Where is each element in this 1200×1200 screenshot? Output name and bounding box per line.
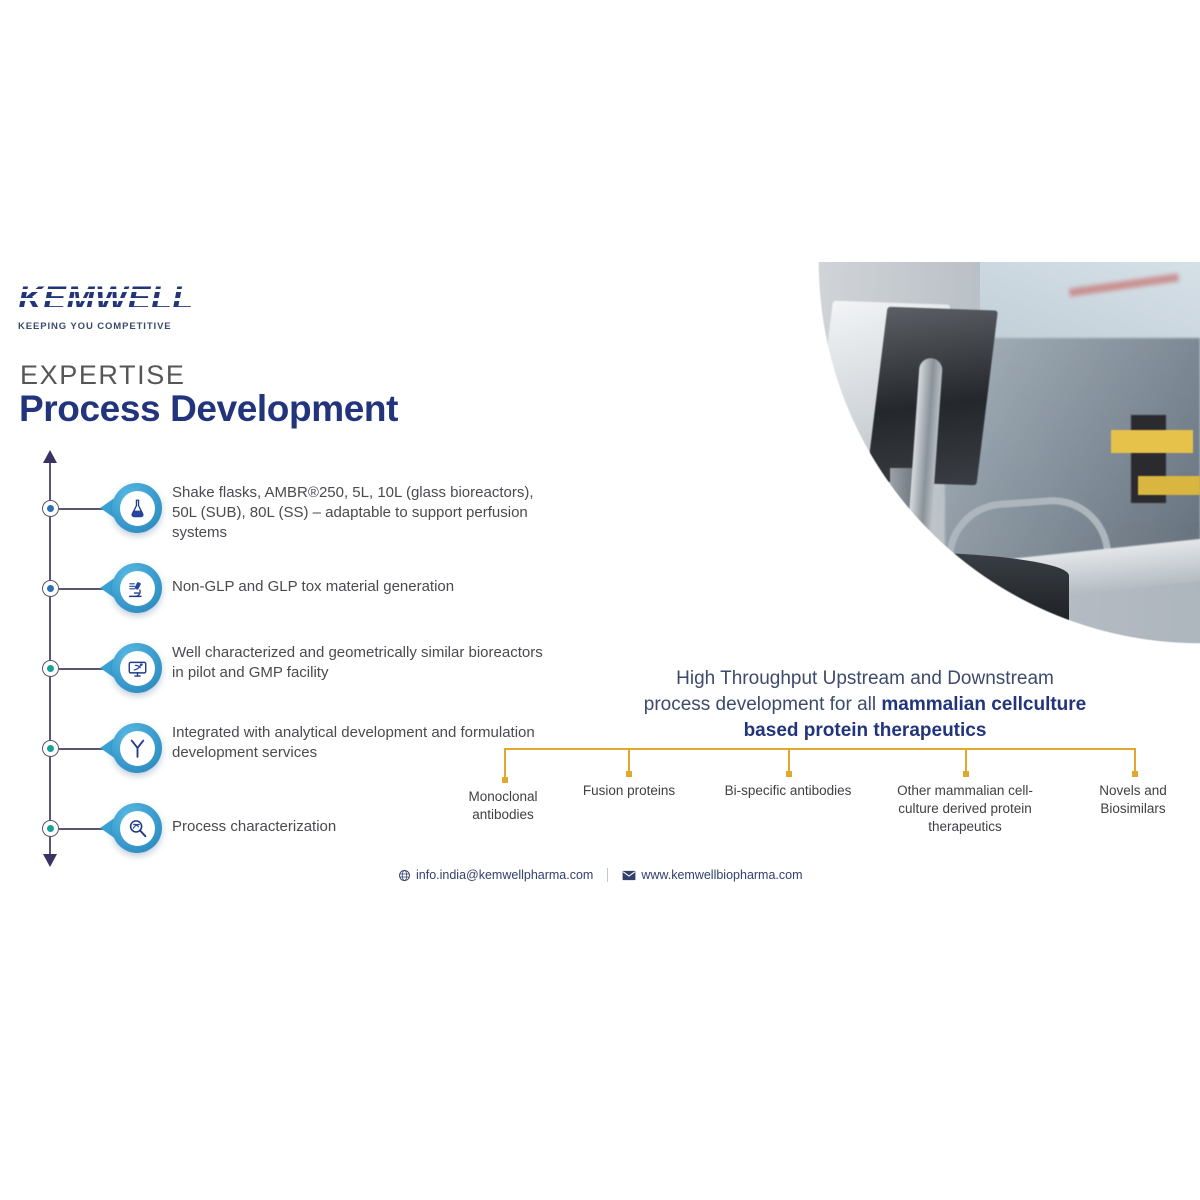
bioreactor-monitor-icon [112,643,162,693]
eyebrow-expertise: EXPERTISE [20,360,185,391]
timeline-axis-line [49,460,51,858]
hero-subheading: High Throughput Upstream and Downstream … [585,666,1145,745]
timeline-item-label: Non-GLP and GLP tox material generation [172,577,557,597]
timeline-connector [59,508,103,510]
page-title: Process Development [19,388,398,430]
timeline-node-dot [42,740,59,757]
bracket-dot [626,771,632,777]
bracket-dot [963,771,969,777]
brand-logo: KEMWELL KEEPING YOU COMPETITIVE [18,282,218,332]
category-label: Fusion proteins [565,782,693,800]
subhead-line-1: High Throughput Upstream and Downstream [676,668,1054,689]
bracket-drop-line [965,748,967,773]
bracket-drop-line [628,748,630,773]
bracket-drop-line [788,748,790,773]
logo-wordmark-text: KEMWELL [18,280,193,318]
category-label: Novels and Biosimilars [1070,782,1196,818]
subhead-line-2-bold: mammalian cellculture [881,694,1086,715]
timeline-item-label: Well characterized and geometrically sim… [172,643,557,683]
footer-contact: info.india@kemwellpharma.com www.kemwell… [398,868,803,882]
poster-canvas: KEMWELL KEEPING YOU COMPETITIVE EXPERTIS… [0,0,1200,1200]
timeline-node-dot [42,580,59,597]
antibody-icon [112,723,162,773]
subhead-line-3-bold: based protein therapeutics [744,720,987,741]
magnifier-icon [112,803,162,853]
globe-icon [398,869,411,882]
bracket-drop-line [1134,748,1136,773]
category-label: Monoclonal antibodies [444,788,562,824]
footer-website-item[interactable]: www.kemwellbiopharma.com [622,868,802,882]
category-label: Other mammalian cell-culture derived pro… [890,782,1040,837]
category-label: Bi-specific antibodies [698,782,878,800]
logo-tagline: KEEPING YOU COMPETITIVE [18,321,218,332]
timeline-arrow-up-icon [43,450,57,463]
subhead-line-2-plain: process development for all [644,694,882,715]
microscope-icon [112,563,162,613]
timeline-item-label: Shake flasks, AMBR®250, 5L, 10L (glass b… [172,483,557,542]
hero-photo-content [512,262,1200,644]
logo-wordmark: KEMWELL [18,282,193,316]
footer-divider [607,868,608,882]
product-categories-bracket: Monoclonal antibodies Fusion proteins Bi… [440,748,1200,863]
timeline-connector [59,748,103,750]
timeline-arrow-down-icon [43,854,57,867]
bracket-horizontal-line [504,748,1134,750]
timeline-connector [59,668,103,670]
flask-icon [112,483,162,533]
timeline-node-dot [42,500,59,517]
hero-photo [512,262,1200,644]
timeline-node-dot [42,820,59,837]
bracket-dot [502,777,508,783]
bracket-drop-line [504,748,506,779]
bracket-dot [786,771,792,777]
timeline-connector [59,588,103,590]
footer-website-text: www.kemwellbiopharma.com [641,868,802,882]
footer-email-item[interactable]: info.india@kemwellpharma.com [398,868,593,882]
timeline-connector [59,828,103,830]
bracket-dot [1132,771,1138,777]
footer-email-text: info.india@kemwellpharma.com [416,868,593,882]
envelope-icon [622,870,636,881]
timeline-node-dot [42,660,59,677]
